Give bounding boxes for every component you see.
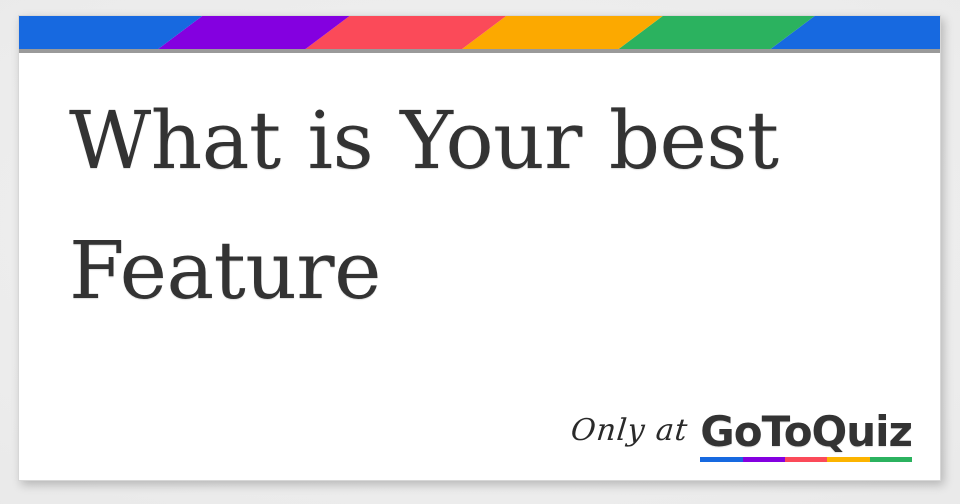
page-title: What is Your best Feature [69,76,889,335]
ribbon-divider-rule [19,49,940,53]
screenshot-stage: What is Your best Feature Only at GoToQu… [0,0,960,504]
logo-rule-segment-red [785,457,827,462]
logo-rule-segment-blue [700,457,742,462]
top-color-ribbon [19,16,940,49]
only-at-label: Only at [570,413,691,448]
branding-footer: Only at GoToQuiz [571,410,912,462]
gotoquiz-wordmark: GoToQuiz [700,410,912,454]
logo-rule-segment-orange [827,457,869,462]
quiz-title-card: What is Your best Feature Only at GoToQu… [18,15,941,481]
logo-rule-segment-purple [743,457,785,462]
gotoquiz-logo-rule [700,457,912,462]
logo-rule-segment-green [870,457,912,462]
gotoquiz-logo[interactable]: GoToQuiz [700,410,912,462]
